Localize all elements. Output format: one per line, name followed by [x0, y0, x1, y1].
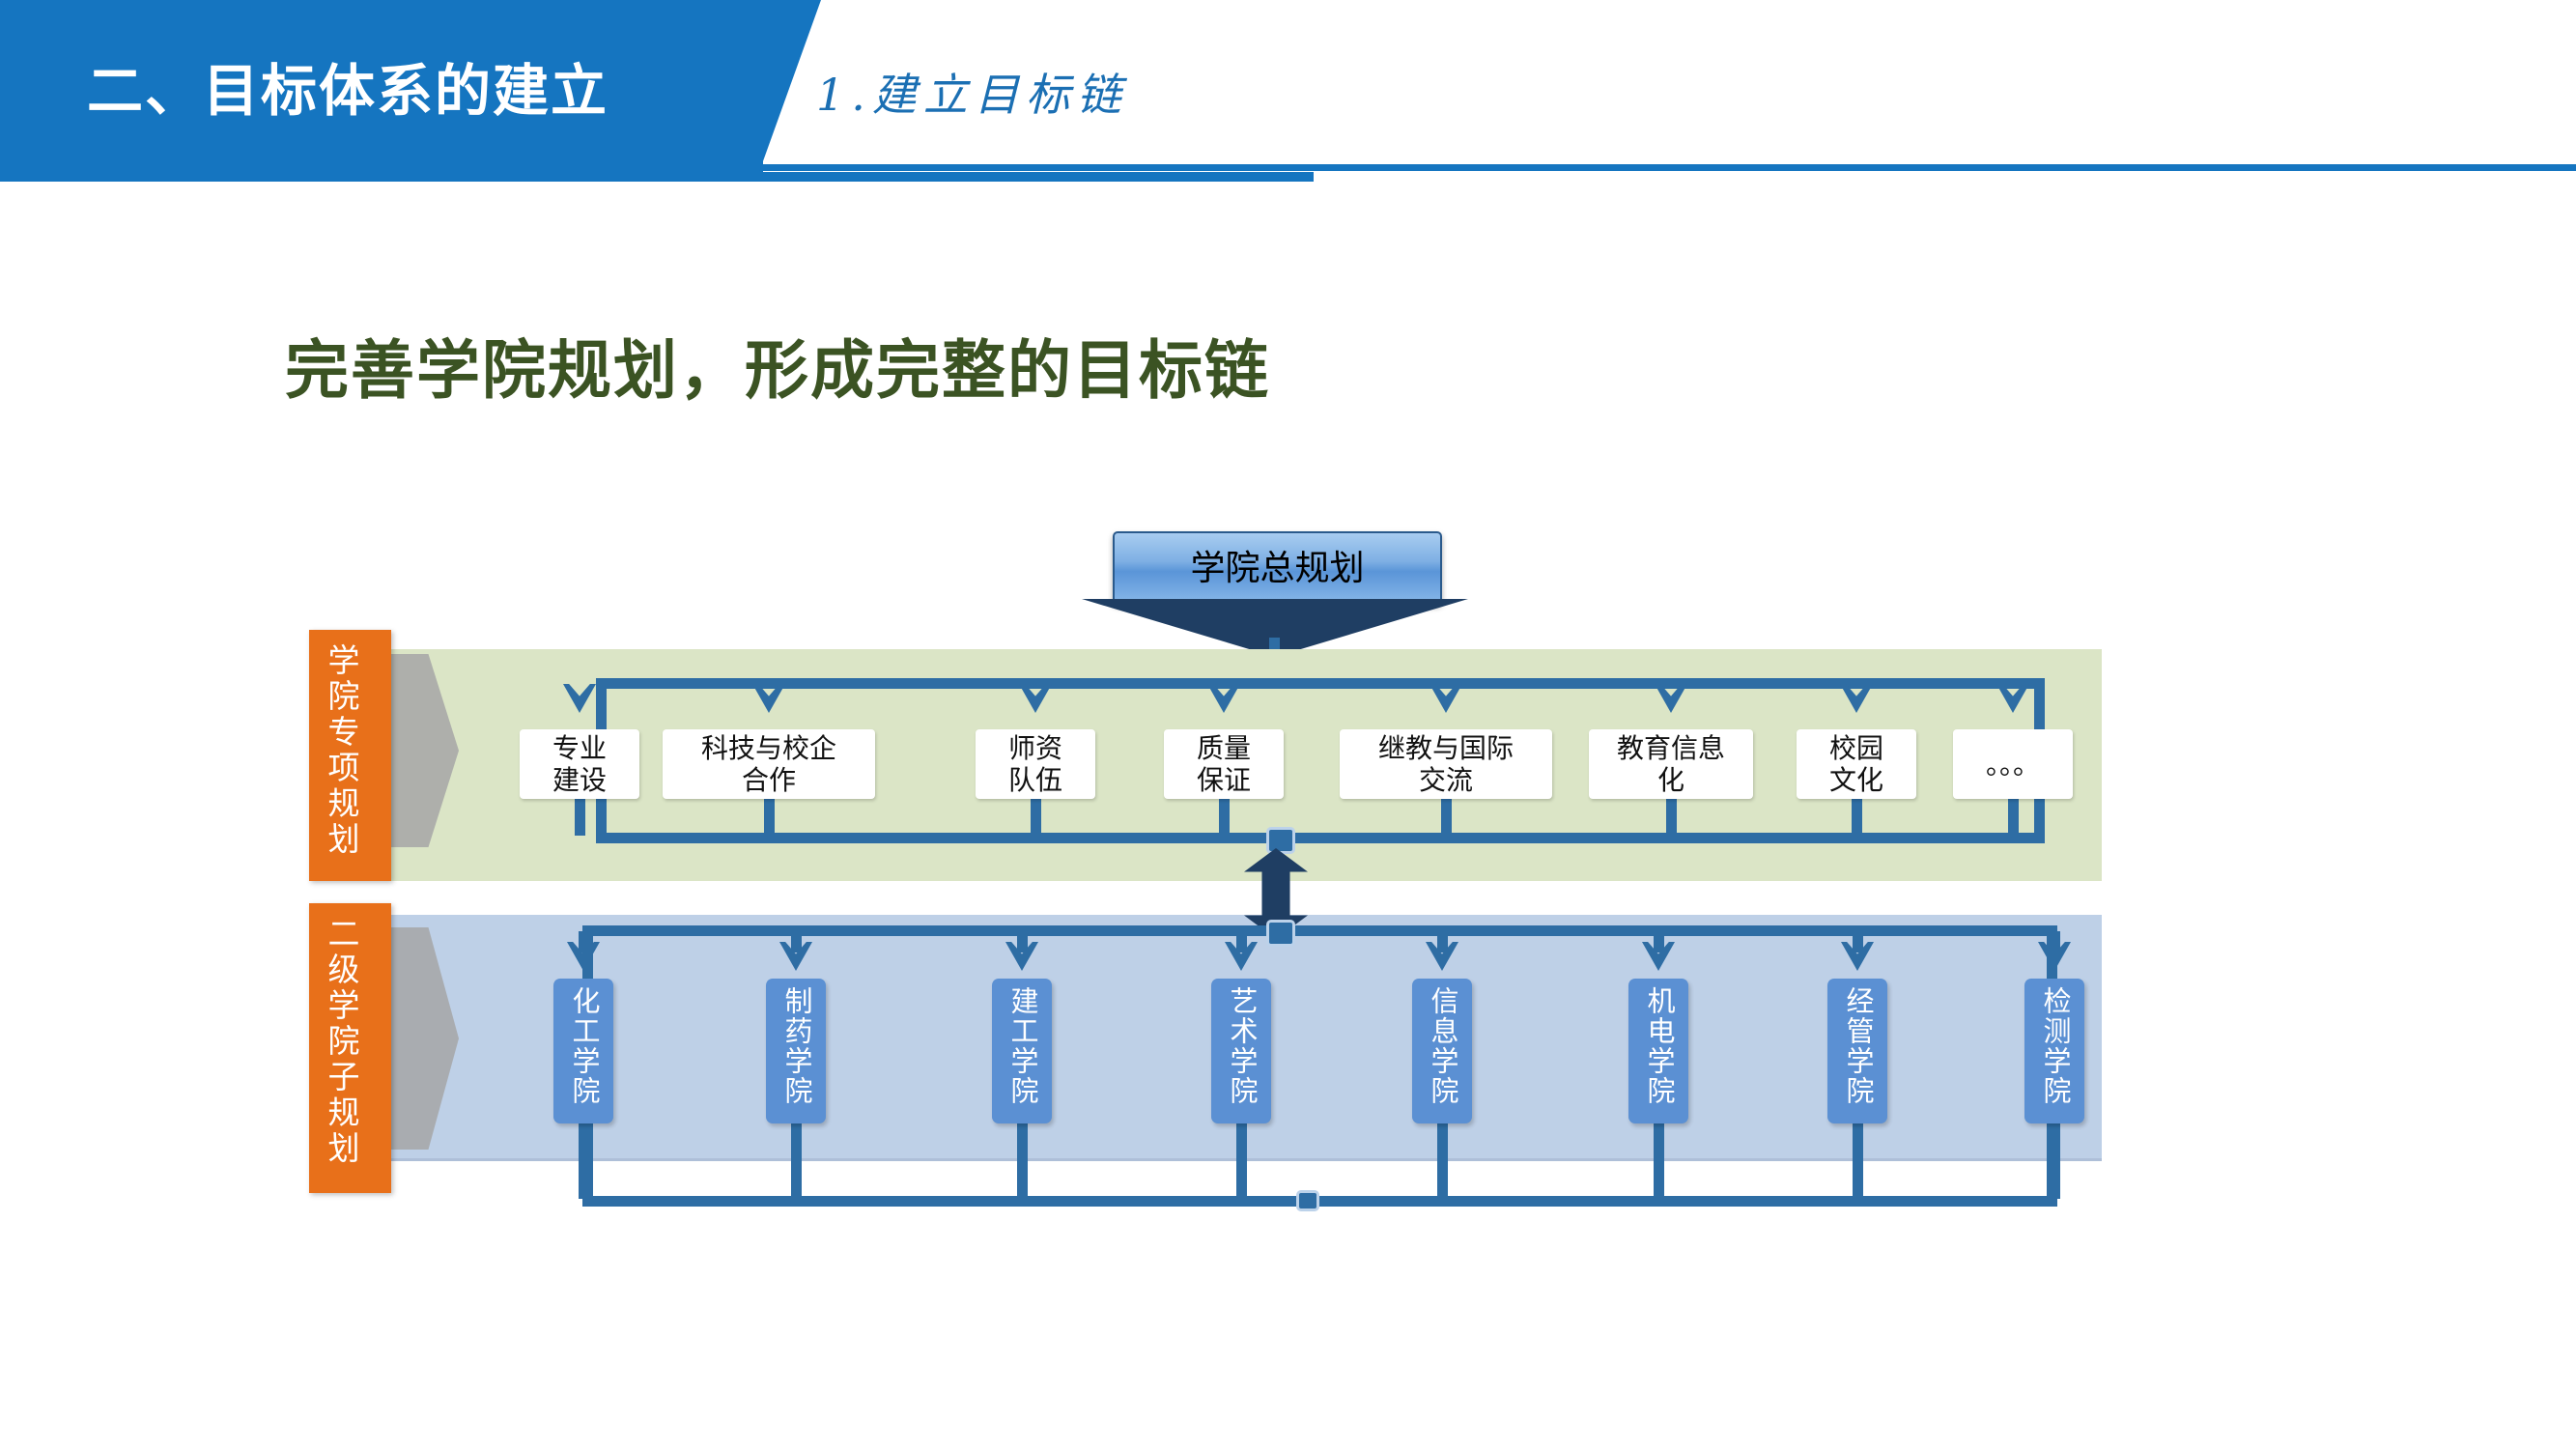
node-stub-line: [579, 1123, 589, 1199]
node-stub-line: [1219, 799, 1230, 836]
sub-college-node-label: 经管学院: [1837, 979, 1878, 1106]
node-riser-line: [1437, 931, 1448, 952]
sub-college-node-label: 信息学院: [1422, 979, 1462, 1106]
special-plan-node[interactable]: 继教与国际 交流: [1340, 729, 1552, 799]
sub-college-node-label: 检测学院: [2034, 979, 2075, 1106]
sub-college-node[interactable]: 检测学院: [2024, 979, 2084, 1123]
node-stub-line: [1017, 1123, 1028, 1199]
side-label-special-plans: 学院专项规划: [309, 630, 391, 881]
node-riser-line: [579, 931, 589, 952]
sub-college-node-label: 建工学院: [1002, 979, 1042, 1106]
special-plan-node-label: 。。。: [1986, 749, 2040, 781]
special-plan-node[interactable]: 专业 建设: [520, 729, 639, 799]
side-label-sub-college-plans: 二级学院子规划: [309, 903, 391, 1193]
node-riser-line: [1236, 931, 1247, 952]
node-stub-line: [1852, 799, 1862, 836]
node-riser-line: [1017, 931, 1028, 952]
node-stub-line: [1031, 799, 1041, 836]
sub-college-node[interactable]: 机电学院: [1628, 979, 1688, 1123]
header-under-bar: [0, 172, 1314, 182]
root-node-box: 学院总规划: [1113, 531, 1442, 605]
top-distribution-bus: [596, 678, 2045, 689]
slide-canvas: 二、目标体系的建立 1.建立目标链 完善学院规划，形成完整的目标链 学院总规划 …: [0, 0, 2576, 1450]
special-plan-node[interactable]: 校园 文化: [1797, 729, 1916, 799]
root-node-label: 学院总规划: [1115, 533, 1440, 603]
side-label-text-1: 学院专项规划: [318, 630, 364, 858]
main-heading: 完善学院规划，形成完整的目标链: [285, 319, 1270, 412]
node-stub-line: [1666, 799, 1677, 836]
special-plan-node[interactable]: 师资 队伍: [976, 729, 1095, 799]
special-plan-node[interactable]: 科技与校企 合作: [663, 729, 875, 799]
node-stub-line: [575, 799, 585, 836]
node-riser-line: [791, 931, 802, 952]
special-plan-node-label: 教育信息 化: [1617, 732, 1725, 796]
sub-college-node[interactable]: 艺术学院: [1211, 979, 1271, 1123]
node-riser-line: [1853, 931, 1863, 952]
blue-bus-bottom-junction-node: [1296, 1190, 1319, 1211]
green-collector-bus: [596, 833, 2045, 843]
header-rule-line: [763, 164, 2576, 171]
sub-college-node-label: 化工学院: [563, 979, 604, 1106]
sub-college-node[interactable]: 经管学院: [1827, 979, 1887, 1123]
node-stub-line: [2008, 799, 2019, 836]
sub-college-node[interactable]: 建工学院: [992, 979, 1052, 1123]
node-stub-line: [764, 799, 775, 836]
sub-college-node[interactable]: 制药学院: [766, 979, 826, 1123]
special-plan-node[interactable]: 质量 保证: [1164, 729, 1284, 799]
blue-bus-top-junction-node: [1266, 920, 1295, 947]
blue-distribution-bus: [582, 925, 2057, 936]
sub-college-node-label: 制药学院: [776, 979, 816, 1106]
node-stub-line: [2050, 1123, 2060, 1199]
special-plan-node-label: 校园 文化: [1829, 732, 1883, 796]
sub-college-node[interactable]: 信息学院: [1412, 979, 1472, 1123]
sub-college-node[interactable]: 化工学院: [553, 979, 613, 1123]
node-stub-line: [1441, 799, 1452, 836]
node-riser-line: [1654, 931, 1664, 952]
node-riser-line: [2050, 931, 2060, 952]
special-plan-node-label: 师资 队伍: [1008, 732, 1062, 796]
special-plan-node-label: 专业 建设: [552, 732, 607, 796]
node-stub-line: [1853, 1123, 1863, 1199]
node-stub-line: [1437, 1123, 1448, 1199]
arrow-up-half: [1244, 848, 1308, 894]
section-title: 二、目标体系的建立: [87, 53, 715, 130]
special-plan-node-label: 科技与校企 合作: [701, 732, 836, 796]
special-plan-node[interactable]: 。。。: [1953, 729, 2073, 799]
special-plan-node-label: 质量 保证: [1197, 732, 1251, 796]
node-stub-line: [791, 1123, 802, 1199]
node-stub-line: [1654, 1123, 1664, 1199]
sub-college-node-label: 机电学院: [1638, 979, 1679, 1106]
special-plan-node-label: 继教与国际 交流: [1378, 732, 1514, 796]
blue-collector-bus: [582, 1196, 2057, 1207]
page-subtitle: 1.建立目标链: [816, 60, 1128, 124]
special-plan-node[interactable]: 教育信息 化: [1589, 729, 1753, 799]
sub-college-node-label: 艺术学院: [1221, 979, 1261, 1106]
node-stub-line: [1236, 1123, 1247, 1199]
side-label-text-2: 二级学院子规划: [318, 903, 364, 1167]
